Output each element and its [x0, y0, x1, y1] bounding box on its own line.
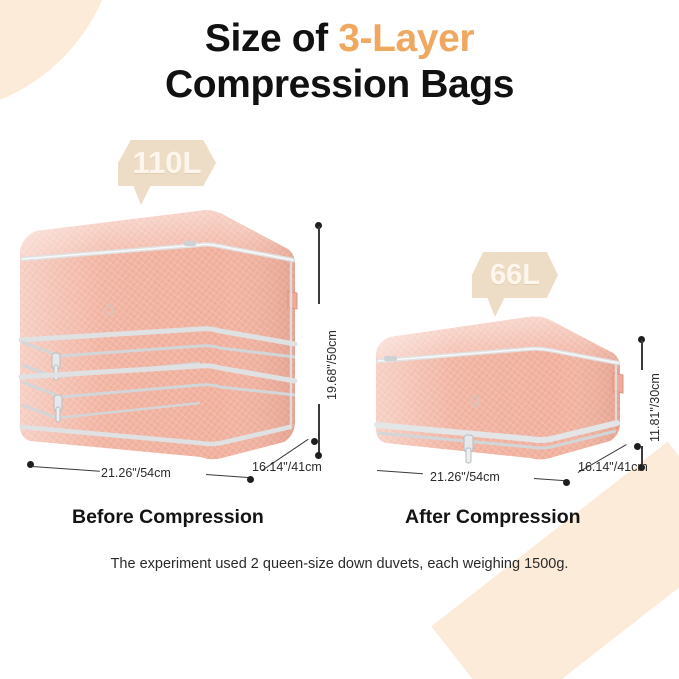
bag-after-svg — [370, 313, 625, 468]
dim-left-height-dot-bottom — [315, 452, 322, 459]
dim-right-width-line-b — [534, 478, 566, 482]
dim-left-depth-label: 16.14"/41cm — [252, 460, 322, 474]
infographic-canvas: Size of 3-Layer Compression Bags 110L 66… — [0, 0, 679, 679]
dim-right-depth-dot-start — [634, 443, 641, 450]
badge-110l: 110L — [118, 140, 216, 186]
bag-before-side-handle-icon — [288, 291, 297, 309]
dim-right-height-line-upper — [641, 340, 643, 370]
dim-right-width-line-a — [377, 470, 423, 475]
bag-illustration-after-compression — [370, 313, 625, 468]
dim-left-width-dot-end — [247, 476, 254, 483]
dim-right-width-label: 21.26"/54cm — [430, 470, 500, 484]
bag-before-top-zipper-pull-icon — [184, 241, 196, 246]
bag-after-top-zipper-pull-icon — [384, 356, 397, 361]
dim-right-height-label: 11.81"/30cm — [648, 373, 662, 442]
bag-illustration-before-compression — [12, 205, 302, 470]
experiment-footnote: The experiment used 2 queen-size down du… — [0, 556, 679, 572]
bag-after-side-handle-icon — [613, 373, 623, 393]
bag-before-svg — [12, 205, 302, 470]
page-title: Size of 3-Layer Compression Bags — [0, 16, 679, 107]
dim-left-width-label: 21.26"/54cm — [101, 466, 171, 480]
dim-left-height-label: 19.68"/50cm — [325, 330, 339, 400]
bag-after-zipper-slider-icon — [464, 435, 473, 463]
dim-right-width-dot-end — [563, 479, 570, 486]
dim-left-height-line-upper — [318, 226, 320, 304]
caption-before-compression: Before Compression — [72, 506, 264, 529]
badge-110l-tail-icon — [133, 185, 151, 205]
dim-left-height-line-lower — [318, 404, 320, 454]
dim-left-depth-dot-start — [311, 438, 318, 445]
badge-110l-label: 110L — [133, 145, 202, 181]
dim-left-width-line-b — [206, 474, 250, 478]
page-title-line-2: Compression Bags — [0, 62, 679, 108]
badge-66l-label: 66L — [490, 259, 540, 292]
dim-right-depth-label: 16.14"/41cm — [578, 460, 648, 474]
page-title-line-1: Size of 3-Layer — [0, 16, 679, 62]
caption-after-compression: After Compression — [405, 506, 581, 529]
page-title-accent: 3-Layer — [338, 17, 474, 60]
badge-66l: 66L — [472, 252, 558, 298]
page-title-prefix: Size of — [205, 17, 338, 60]
